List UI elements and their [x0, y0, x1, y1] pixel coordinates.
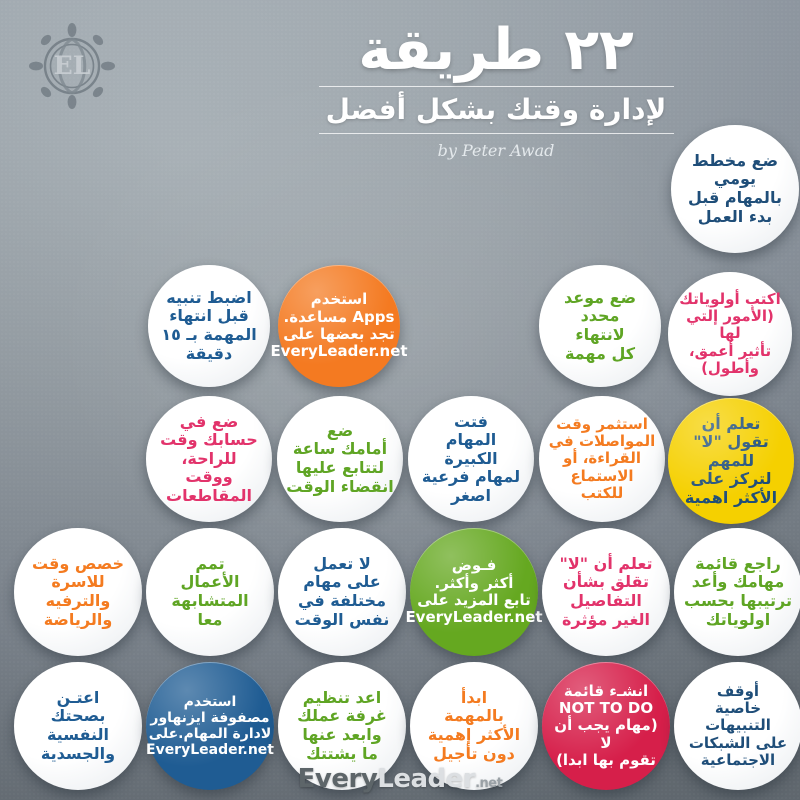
tip-bubble-text: انشـء قائمة NOT TO DO (مهام يجب أن لا تق…: [542, 683, 670, 770]
tip-bubble-text: ابدأ بالمهمة الأكثر إهمية دون تأجيل: [419, 689, 529, 763]
footer-everyleader-logo: EveryLeader.net: [0, 764, 800, 794]
tip-bubble-text: فتت المهام الكبيرة لمهام فرعية اصغر: [408, 413, 534, 506]
tip-bubble-tip-dont-worry-details[interactable]: تعلم أن "لا" تقلق بشأن التفاصيل الغير مؤ…: [542, 528, 670, 656]
footer-logo-every: Every: [298, 764, 378, 794]
tip-bubble-text: ضع أمامك ساعة لتتابع عليها انقضاء الوقت: [277, 422, 402, 496]
page-subtitle: لإدارة وقتك بشكل أفضل: [216, 95, 776, 126]
tip-bubble-tip-split-big-tasks[interactable]: فتت المهام الكبيرة لمهام فرعية اصغر: [408, 396, 534, 522]
tip-bubble-text: لا تعمل على مهام مختلفة في نفس الوقت: [286, 555, 399, 629]
tip-bubble-text: اعد تنظيم غرفة عملك وابعد عنها ما يشتتك: [288, 689, 396, 763]
tip-bubble-tip-delegate-more[interactable]: فـوض أكثر وأكثر. تابع المزيد على EveryLe…: [410, 528, 538, 656]
title-divider-top: [319, 86, 674, 87]
tip-bubble-text: فـوض أكثر وأكثر. تابع المزيد على EveryLe…: [396, 557, 551, 627]
tip-bubble-tip-say-no[interactable]: تعلم أن تقول "لا" للمهم لتركز على الأكثر…: [668, 398, 794, 524]
tip-bubble-text: اضبط تنبيه قبل انتهاء المهمة بـ ١٥ دقيقة: [152, 289, 265, 363]
tip-bubble-tip-clock-in-front[interactable]: ضع أمامك ساعة لتتابع عليها انقضاء الوقت: [277, 396, 403, 522]
tip-bubble-tip-review-task-list[interactable]: راجع قائمة مهامك وأعد ترتيبها بحسب اولوي…: [674, 528, 800, 656]
tip-bubble-text: ضع موعد محدد لانتهاء كل مهمة: [555, 289, 645, 363]
tip-bubble-tip-batch-similar[interactable]: تمم الأعمال المتشابهة معا: [146, 528, 274, 656]
tip-bubble-tip-commute-reading[interactable]: استثمر وقت المواصلات في القراءة، أو الاس…: [539, 396, 665, 522]
title-block: ٢٢ طريقة لإدارة وقتك بشكل أفضل by Peter …: [216, 22, 776, 160]
tip-bubble-tip-no-multitask[interactable]: لا تعمل على مهام مختلفة في نفس الوقت: [278, 528, 406, 656]
tip-bubble-text: استخدم مصفوفة ايزنهاور لادارة المهام.على…: [137, 694, 283, 759]
tip-bubble-text: تعلم أن تقول "لا" للمهم لتركز على الأكثر…: [668, 415, 794, 508]
title-divider-bottom: [319, 133, 674, 134]
tip-bubble-text: ضع في حسابك وقت للراحة، ووقت المقاطعات: [146, 413, 272, 506]
tip-bubble-tip-set-deadline[interactable]: ضع موعد محدد لانتهاء كل مهمة: [539, 265, 661, 387]
everyleader-wheel-logo-icon: EL: [22, 16, 122, 116]
tip-bubble-text: تعلم أن "لا" تقلق بشأن التفاصيل الغير مؤ…: [551, 555, 662, 629]
tip-bubble-tip-use-apps[interactable]: استخدم Apps مساعدة. تجد بعضها على EveryL…: [278, 265, 400, 387]
tip-bubble-text: تمم الأعمال المتشابهة معا: [162, 555, 257, 629]
tip-bubble-text: راجع قائمة مهامك وأعد ترتيبها بحسب اولوي…: [675, 555, 800, 629]
tip-bubble-text: أوقف خاصية التنبيهات على الشبكات الاجتما…: [674, 683, 800, 770]
tip-bubble-text: استثمر وقت المواصلات في القراءة، أو الاس…: [539, 416, 665, 503]
footer-logo-leader: Leader: [377, 764, 475, 794]
author-byline: by Peter Awad: [216, 141, 776, 160]
tip-bubble-text: اكتب أولوياتك (الأمور إلتي لها تأثير أعم…: [668, 291, 792, 378]
tip-bubble-text: اعتـن بصحتك النفسية والجسدية: [32, 689, 124, 763]
infographic-poster: EL ٢٢ طريقة لإدارة وقتك بشكل أفضل by Pet…: [0, 0, 800, 800]
tip-bubble-tip-alert-15-min[interactable]: اضبط تنبيه قبل انتهاء المهمة بـ ١٥ دقيقة: [148, 265, 270, 387]
tip-bubble-text: خصص وقت للاسرة والترفيه والرياضة: [23, 555, 133, 629]
tip-bubble-tip-rest-and-interrupts[interactable]: ضع في حسابك وقت للراحة، ووقت المقاطعات: [146, 396, 272, 522]
tip-bubble-text: استخدم Apps مساعدة. تجد بعضها على EveryL…: [261, 291, 416, 361]
tip-bubble-tip-write-priorities[interactable]: اكتب أولوياتك (الأمور إلتي لها تأثير أعم…: [668, 272, 792, 396]
svg-text:EL: EL: [54, 51, 91, 80]
tip-bubble-text: ضع مخطط يومي بالمهام قبل بدء العمل: [679, 152, 791, 226]
page-title: ٢٢ طريقة: [216, 22, 776, 79]
tip-bubble-tip-family-time[interactable]: خصص وقت للاسرة والترفيه والرياضة: [14, 528, 142, 656]
footer-logo-net: .net: [475, 776, 502, 791]
